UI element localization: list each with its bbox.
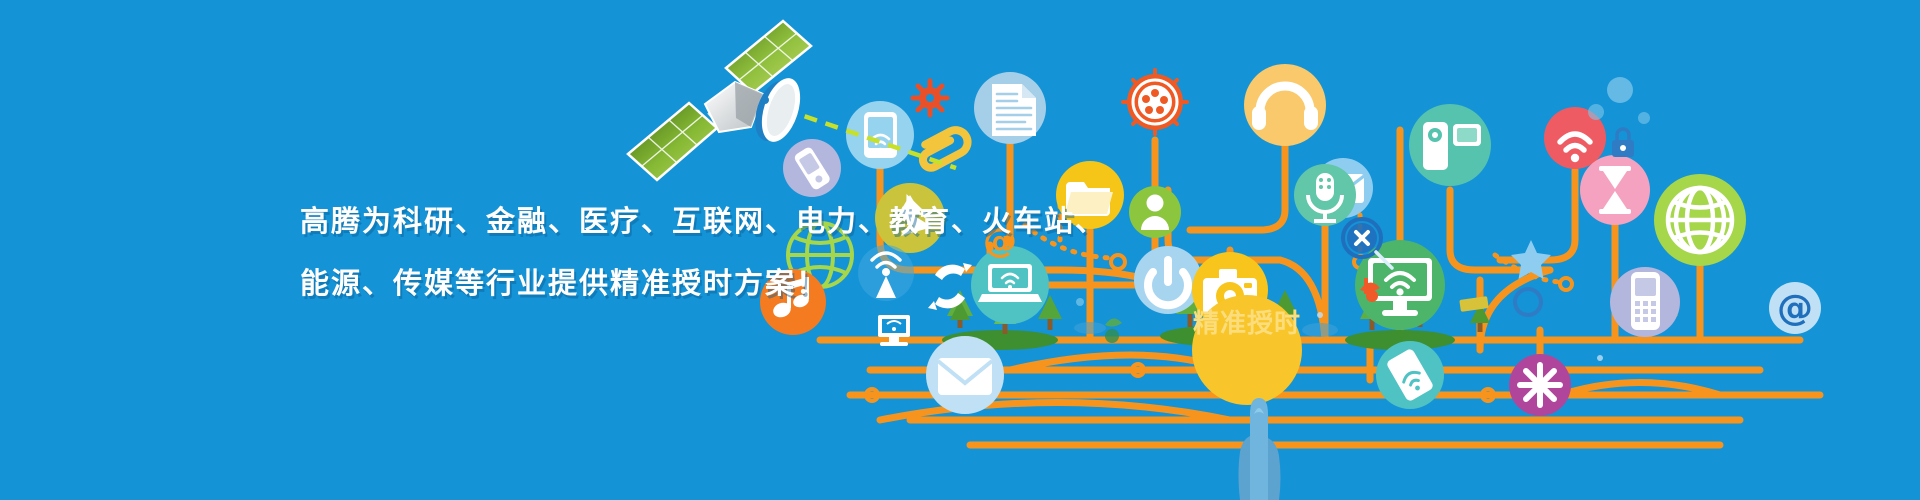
pointing-hand [1228,318,1290,500]
user-icon[interactable] [1129,186,1181,238]
svg-text:@: @ [1777,288,1813,329]
solar-panel-lower [628,103,717,180]
asterisk-icon[interactable] [1509,354,1571,416]
globe-grid-icon[interactable] [1654,174,1746,266]
flip-phone-icon[interactable] [1610,267,1680,337]
lock-icon[interactable] [1612,129,1634,157]
tablet-tilt-wifi-icon[interactable] [1376,341,1444,409]
headline-line-2: 能源、传媒等行业提供精准授时方案！ [300,252,1106,314]
film-reel-icon[interactable] [1123,70,1187,134]
envelope-small-icon[interactable] [926,336,1004,414]
at-symbol-icon[interactable]: @ [1769,282,1821,334]
hero-banner: @ [0,0,1920,500]
headline-line-1: 高腾为科研、金融、医疗、互联网、电力、教育、火车站、 [300,190,1106,252]
satellite [595,8,845,198]
microphone-icon[interactable] [1294,164,1356,226]
hourglass-icon[interactable] [1580,155,1650,225]
page-title: 高腾为科研、金融、医疗、互联网、电力、教育、火车站、 能源、传媒等行业提供精准授… [300,190,1106,314]
video-camera-icon[interactable] [1409,104,1491,186]
document-icon[interactable] [974,72,1046,144]
solar-panel-upper [726,21,811,93]
headphones-icon[interactable] [1244,64,1326,146]
